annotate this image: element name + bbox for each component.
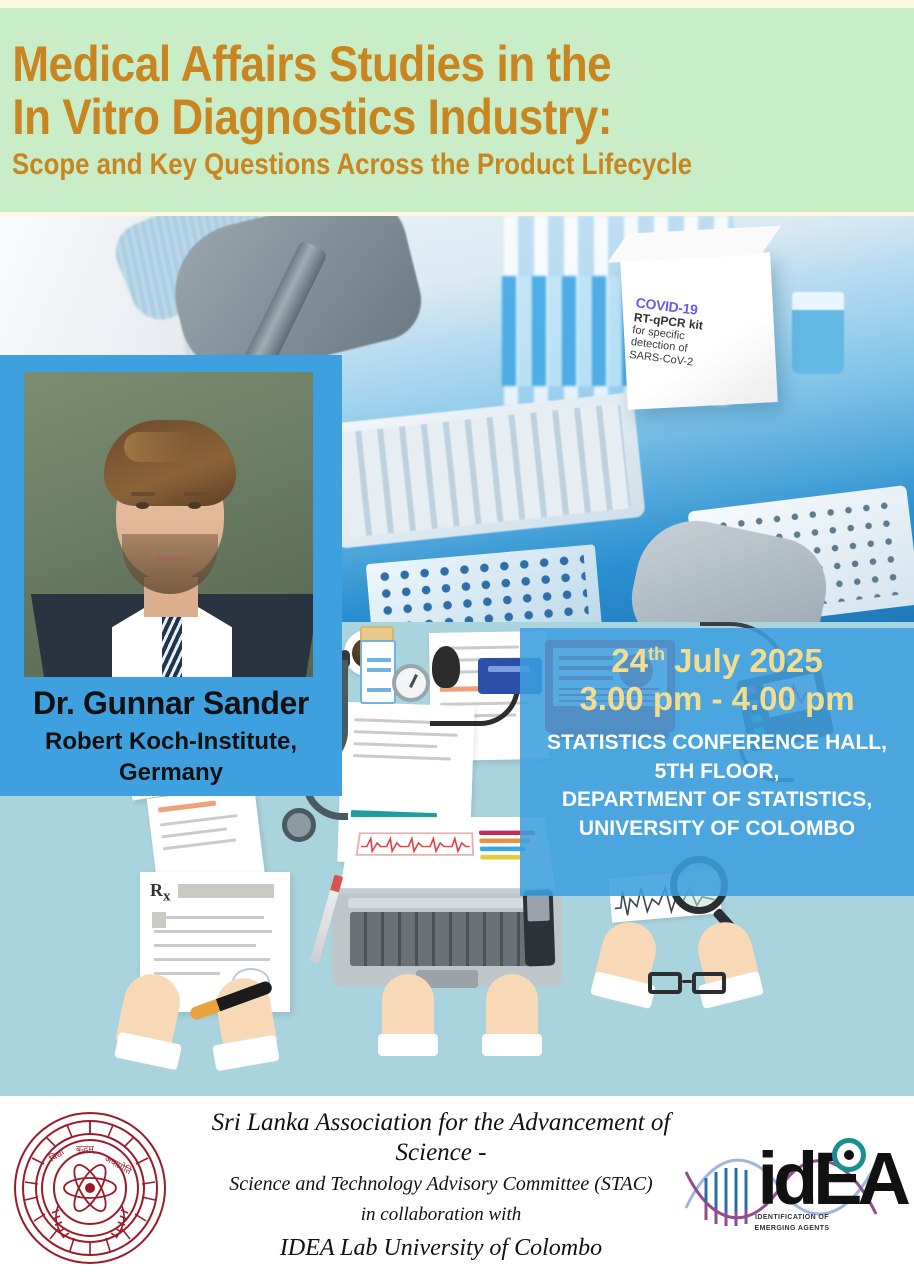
bp-gauge-icon <box>392 664 430 702</box>
poster-subtitle: Scope and Key Questions Across the Produ… <box>0 148 786 183</box>
svg-text:बुद्धम्: बुद्धम् <box>76 1144 96 1155</box>
organizer-text: Sri Lanka Association for the Advancemen… <box>176 1108 706 1264</box>
organizer-line-3: in collaboration with <box>176 1202 706 1228</box>
organizer-line-4: IDEA Lab University of Colombo <box>176 1233 706 1264</box>
sample-tray <box>324 392 645 549</box>
svg-text:अवाप्नोति: अवाप्नोति <box>103 1152 134 1177</box>
rx-symbol: Rx <box>150 880 171 906</box>
slaas-seal-logo: विद्या बुद्धम् अवाप्नोति <box>12 1110 168 1266</box>
speaker-affiliation-line-2: Germany <box>0 758 342 789</box>
kit-box-label: COVID-19 RT-qPCR kit for specific detect… <box>629 295 756 375</box>
poster-footer: विद्या बुद्धम् अवाप्नोति Sri Lanka Assoc… <box>0 1096 914 1280</box>
venue-line-1: STATISTICS CONFERENCE HALL, <box>547 729 887 758</box>
event-date-day: 24 <box>611 642 648 679</box>
event-time: 3.00 pm - 4.00 pm <box>579 680 854 718</box>
title-line-2: In Vitro Diagnostics Industry: <box>0 91 804 144</box>
venue-line-2: 5TH FLOOR, <box>547 758 887 787</box>
venue-line-4: UNIVERSITY OF COLOMBO <box>547 815 887 844</box>
venue-line-3: DEPARTMENT OF STATISTICS, <box>547 786 887 815</box>
speaker-name: Dr. Gunnar Sander <box>0 685 342 722</box>
medicine-bottle-icon <box>360 640 396 704</box>
speaker-affiliation: Robert Koch-Institute, Germany <box>0 727 342 788</box>
mobile-phone-icon <box>523 889 556 966</box>
event-venue: STATISTICS CONFERENCE HALL, 5TH FLOOR, D… <box>547 729 887 845</box>
organizer-line-2: Science and Technology Advisory Committe… <box>176 1171 706 1198</box>
bp-bulb-icon <box>432 646 460 688</box>
event-date-suffix: th <box>648 644 665 664</box>
organizer-line-1: Sri Lanka Association for the Advancemen… <box>176 1108 706 1168</box>
speaker-card: Dr. Gunnar Sander Robert Koch-Institute,… <box>0 355 342 796</box>
event-date: 24th July 2025 <box>611 642 823 680</box>
title-line-1: Medical Affairs Studies in the <box>0 38 804 91</box>
covid-test-kit-box: COVID-19 RT-qPCR kit for specific detect… <box>620 252 778 410</box>
poster-root: Medical Affairs Studies in the In Vitro … <box>0 0 914 1280</box>
eyeglasses-icon <box>648 972 730 998</box>
sample-vial <box>792 292 844 374</box>
speaker-portrait <box>24 372 313 677</box>
poster-header: Medical Affairs Studies in the In Vitro … <box>0 8 914 212</box>
eye-icon <box>832 1138 866 1172</box>
idea-lab-logo: idEA IDENTIFICATION OF EMERGING AGENTS <box>680 1130 908 1248</box>
event-details-box: 24th July 2025 3.00 pm - 4.00 pm STATIST… <box>520 628 914 896</box>
idea-tagline: IDENTIFICATION OF EMERGING AGENTS <box>746 1213 838 1234</box>
laptop-ecg-trace <box>358 834 472 854</box>
pcr-plate-center <box>366 544 605 628</box>
sleeve-cuff-right <box>482 1034 542 1056</box>
event-date-month-year: July 2025 <box>665 642 823 679</box>
sleeve-cuff-left <box>378 1034 438 1056</box>
speaker-affiliation-line-1: Robert Koch-Institute, <box>0 727 342 758</box>
